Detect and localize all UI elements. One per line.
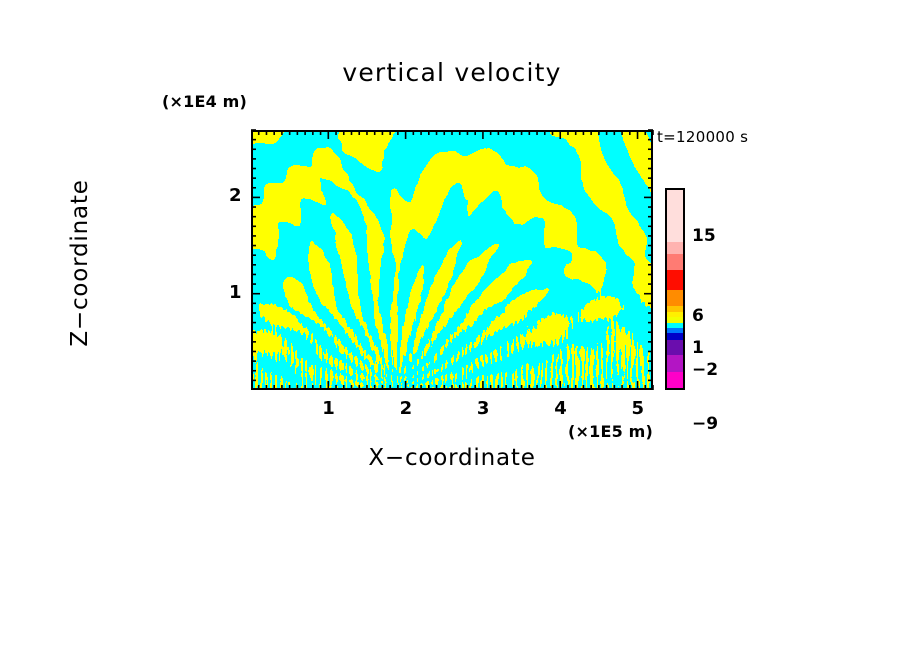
colorbar-band-1 [667,242,683,255]
vertical-velocity-field [253,132,651,388]
y-tick-label: 2 [229,185,242,206]
x-tick-label: 2 [400,398,413,419]
y-axis-units-label: (×1E4 m) [162,92,247,111]
colorbar-band-2 [667,254,683,269]
colorbar-tick-label: −2 [692,360,718,380]
x-axis-title: X−coordinate [0,445,904,471]
colorbar-tick-label: −9 [692,414,718,434]
colorbar-bands [667,190,683,388]
y-axis-title: Z−coordinate [67,123,93,403]
x-tick-label: 5 [632,398,645,419]
colorbar-tick-label: 1 [692,338,704,358]
colorbar-band-4 [667,290,683,306]
contour-plot-area [251,130,653,390]
x-axis-units-label: (×1E5 m) [568,422,653,441]
x-tick-label: 1 [322,398,335,419]
time-annotation: t=120000 s [657,128,748,146]
page-title: vertical velocity [0,58,904,87]
colorbar-tick-label: 15 [692,226,716,246]
x-tick-label: 4 [554,398,567,419]
colorbar-tick-label: 6 [692,306,704,326]
colorbar [665,188,685,390]
colorbar-band-11 [667,340,683,355]
colorbar-band-0 [667,190,683,242]
colorbar-band-13 [667,372,683,387]
y-tick-label: 1 [229,282,242,303]
x-tick-label: 3 [477,398,490,419]
colorbar-band-12 [667,355,683,372]
figure-canvas: vertical velocity (×1E4 m) t=120000 s 12… [0,0,904,654]
colorbar-band-3 [667,270,683,290]
